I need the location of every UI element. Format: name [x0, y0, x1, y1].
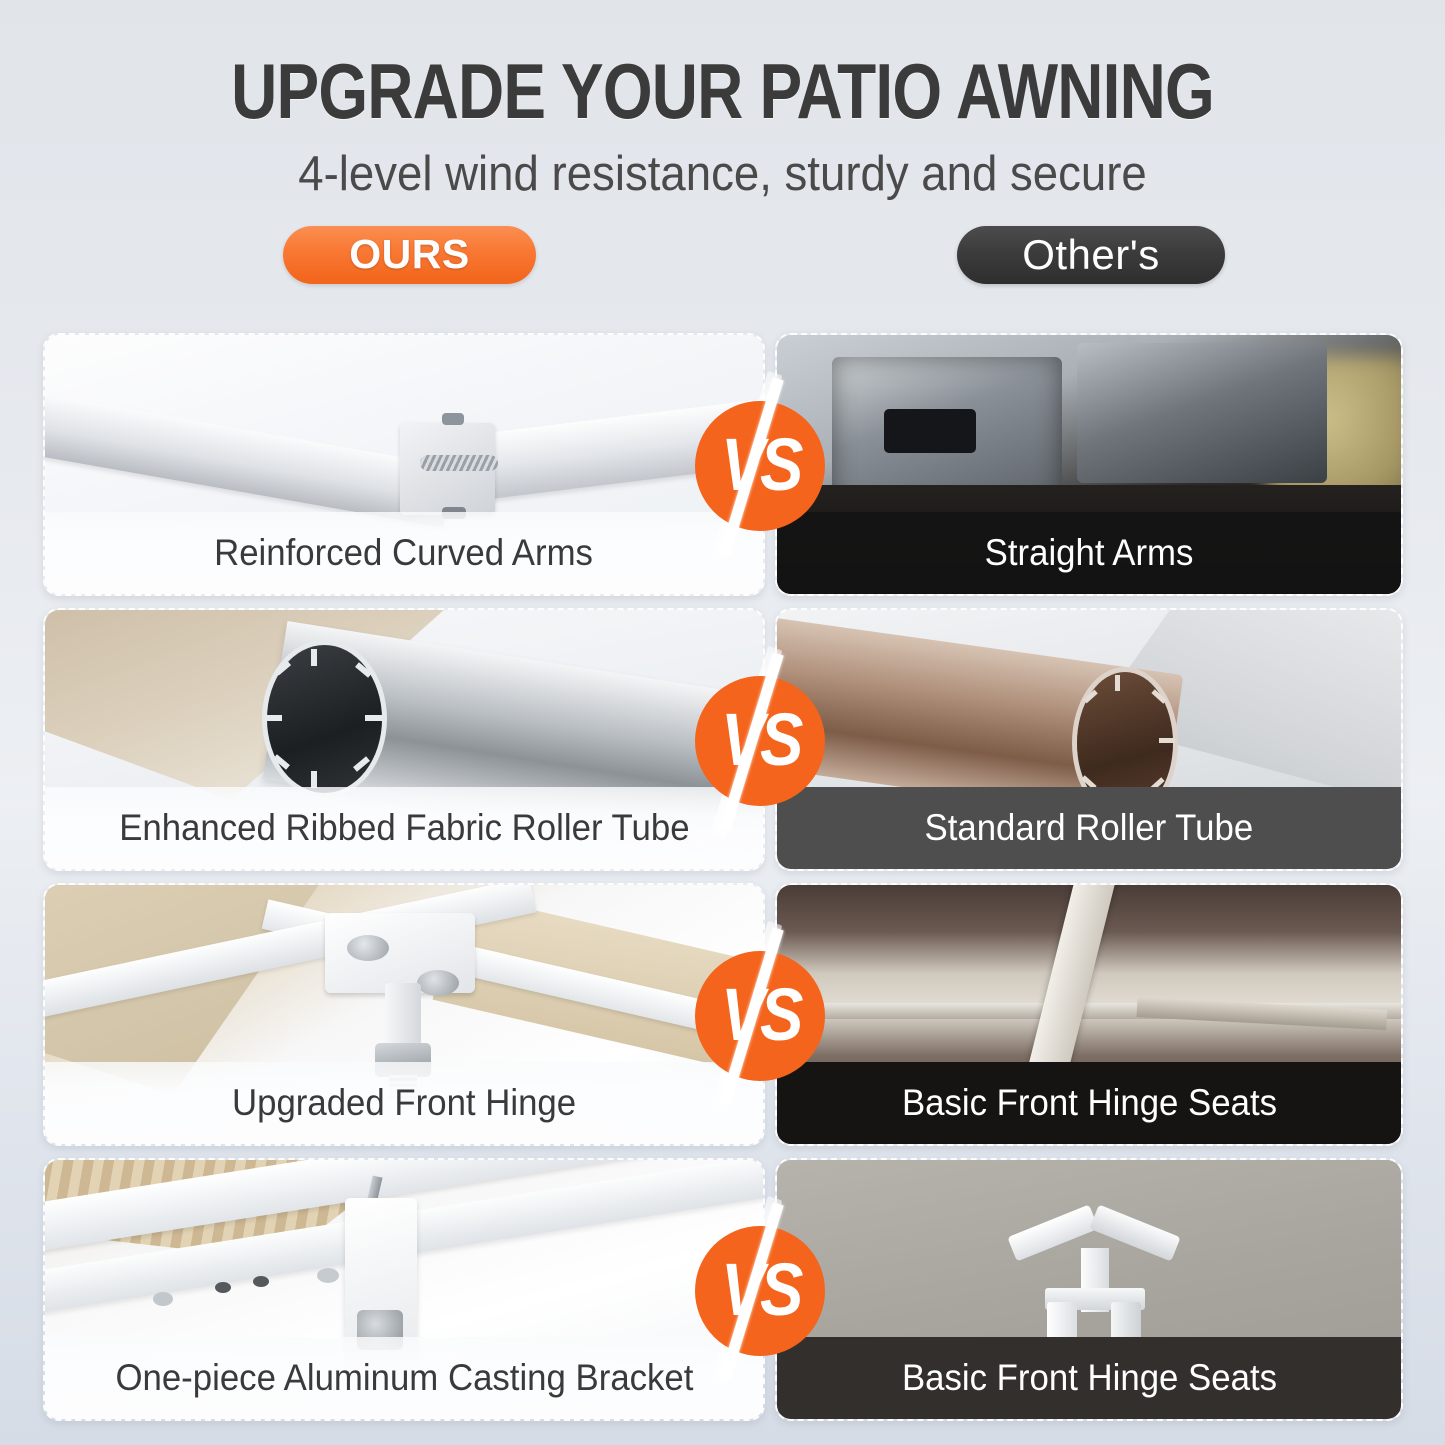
ours-caption: One-piece Aluminum Casting Bracket — [45, 1337, 763, 1419]
badge-others: Other's — [957, 226, 1225, 284]
other-panel: Basic Front Hinge Seats — [775, 1158, 1403, 1421]
page-subtitle: 4-level wind resistance, sturdy and secu… — [51, 146, 1395, 202]
ours-panel: Reinforced Curved Arms — [43, 333, 765, 596]
ours-panel: One-piece Aluminum Casting Bracket — [43, 1158, 765, 1421]
badge-others-label: Other's — [1022, 231, 1160, 279]
other-caption: Basic Front Hinge Seats — [777, 1062, 1401, 1144]
other-panel: Standard Roller Tube — [775, 608, 1403, 871]
other-caption-text: Standard Roller Tube — [925, 807, 1254, 849]
other-panel: Basic Front Hinge Seats — [775, 883, 1403, 1146]
badge-ours-label: OURS — [349, 231, 469, 278]
page-header: UPGRADE YOUR PATIO AWNING 4-level wind r… — [0, 0, 1445, 202]
comparison-grid: Reinforced Curved Arms VS Straight Arms — [0, 333, 1445, 1433]
ours-panel: Enhanced Ribbed Fabric Roller Tube — [43, 608, 765, 871]
ours-caption-text: Upgraded Front Hinge — [232, 1082, 576, 1124]
ours-caption: Enhanced Ribbed Fabric Roller Tube — [45, 787, 763, 869]
vs-badge: VS — [689, 395, 831, 537]
other-caption-text: Straight Arms — [985, 532, 1194, 574]
other-panel: Straight Arms — [775, 333, 1403, 596]
vs-label: VS — [698, 1218, 823, 1360]
comparison-row: Upgraded Front Hinge VS Basic Front Hing… — [0, 883, 1445, 1158]
vs-label: VS — [698, 393, 823, 535]
vs-badge: VS — [689, 670, 831, 812]
page-title: UPGRADE YOUR PATIO AWNING — [130, 52, 1315, 132]
ours-panel: Upgraded Front Hinge — [43, 883, 765, 1146]
other-caption-text: Basic Front Hinge Seats — [901, 1357, 1276, 1399]
badge-ours: OURS — [283, 226, 536, 284]
other-caption-text: Basic Front Hinge Seats — [901, 1082, 1276, 1124]
ours-caption: Upgraded Front Hinge — [45, 1062, 763, 1144]
comparison-row: One-piece Aluminum Casting Bracket VS Ba… — [0, 1158, 1445, 1433]
other-caption: Basic Front Hinge Seats — [777, 1337, 1401, 1419]
vs-badge: VS — [689, 945, 831, 1087]
other-caption: Standard Roller Tube — [777, 787, 1401, 869]
vs-label: VS — [698, 668, 823, 810]
ours-caption-text: Reinforced Curved Arms — [215, 532, 594, 574]
ours-caption: Reinforced Curved Arms — [45, 512, 763, 594]
comparison-badge-row: OURS Other's — [0, 226, 1445, 300]
comparison-row: Enhanced Ribbed Fabric Roller Tube VS St… — [0, 608, 1445, 883]
ours-caption-text: Enhanced Ribbed Fabric Roller Tube — [119, 807, 689, 849]
vs-badge: VS — [689, 1220, 831, 1362]
comparison-row: Reinforced Curved Arms VS Straight Arms — [0, 333, 1445, 608]
other-caption: Straight Arms — [777, 512, 1401, 594]
vs-label: VS — [698, 943, 823, 1085]
ours-caption-text: One-piece Aluminum Casting Bracket — [115, 1357, 693, 1399]
